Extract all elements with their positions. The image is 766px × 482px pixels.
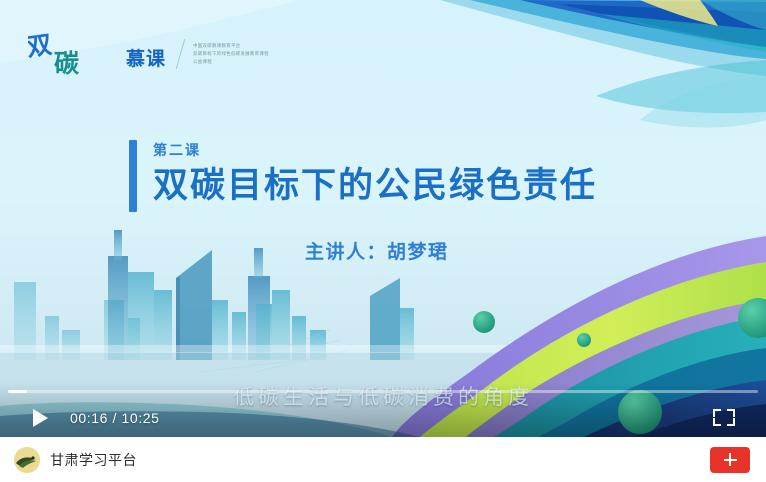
logo-fine-print-line2: 双碳目标下的绿色低碳发展教育课程 [193, 52, 269, 58]
logo-fine-print-line3: 公益课程 [193, 60, 269, 66]
progress-bar[interactable] [8, 390, 758, 393]
channel-bar: 甘肃学习平台 [0, 437, 766, 482]
lesson-number: 第二课 [153, 142, 597, 160]
brand-logo: 双 碳 慕课 中国双碳慕课教育平台 双碳目标下的绿色低碳发展教育课程 公益课程 [28, 33, 269, 75]
svg-text:双: 双 [28, 32, 54, 62]
logo-fine-print: 中国双碳慕课教育平台 双碳目标下的绿色低碳发展教育课程 公益课程 [193, 42, 269, 66]
time-display: 00:16 / 10:25 [70, 410, 160, 426]
play-icon[interactable] [20, 398, 60, 437]
follow-button[interactable] [710, 447, 750, 473]
logo-divider [176, 39, 186, 69]
plus-icon [724, 453, 737, 466]
logo-mark-icon: 双 碳 [28, 32, 130, 76]
video-player-page: 双 碳 慕课 中国双碳慕课教育平台 双碳目标下的绿色低碳发展教育课程 公益课程 … [0, 0, 766, 482]
slide-title-block: 第二课 双碳目标下的公民绿色责任 [129, 140, 597, 212]
lecturer-label: 主讲人：胡梦珺 [305, 237, 449, 264]
channel-name: 甘肃学习平台 [50, 450, 137, 470]
channel-avatar[interactable] [14, 447, 40, 473]
player-controls: 00:16 / 10:25 [0, 398, 766, 437]
title-accent-bar [129, 140, 137, 212]
video-frame[interactable]: 双 碳 慕课 中国双碳慕课教育平台 双碳目标下的绿色低碳发展教育课程 公益课程 … [0, 0, 766, 437]
progress-fill [8, 390, 27, 393]
logo-muke-text: 慕课 [126, 44, 166, 71]
fullscreen-icon[interactable] [704, 398, 744, 437]
lesson-title: 双碳目标下的公民绿色责任 [153, 165, 597, 207]
svg-text:碳: 碳 [54, 49, 80, 76]
logo-fine-print-line1: 中国双碳慕课教育平台 [193, 44, 269, 50]
